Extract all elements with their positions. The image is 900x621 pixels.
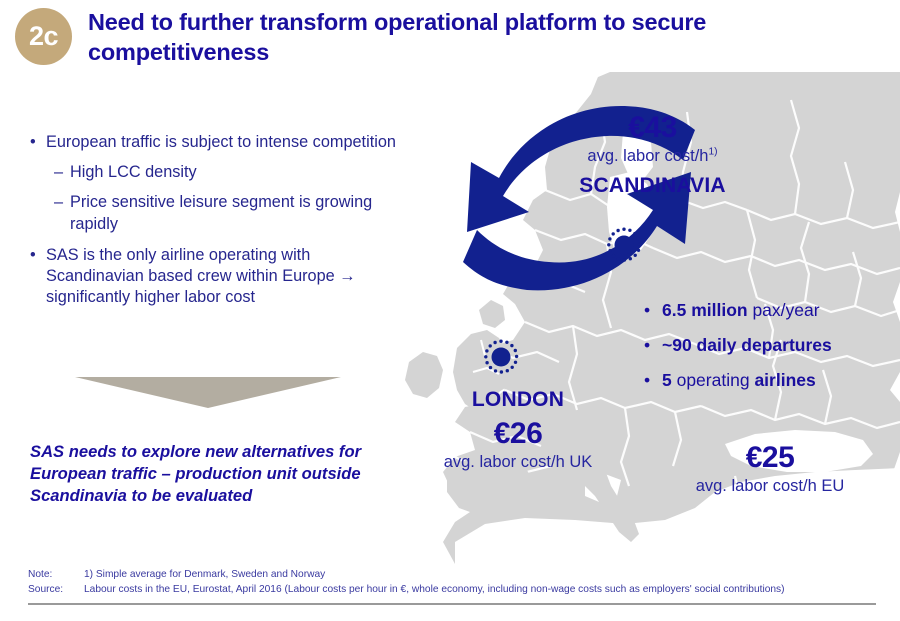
list-item-text: Price sensitive leisure segment is growi… [70, 193, 372, 232]
list-item: • European traffic is subject to intense… [28, 132, 408, 153]
note-row: Note: 1) Simple average for Denmark, Swe… [28, 568, 876, 583]
footer-divider [28, 603, 876, 605]
step-badge: 2c [15, 8, 72, 65]
source-text: Labour costs in the EU, Eurostat, April … [84, 583, 876, 598]
list-item-text: European traffic is subject to intense c… [46, 133, 396, 151]
london-marker [481, 337, 521, 377]
stat-value: ~90 daily departures [662, 335, 832, 355]
london-cost-value: €26 [408, 419, 628, 449]
eu-cost-value: €25 [650, 443, 890, 473]
network-stats-list: • 6.5 million pax/year • ~90 daily depar… [640, 300, 898, 405]
stat-value: 6.5 million [662, 300, 748, 320]
bullet-marker: • [644, 300, 650, 321]
slide-canvas: 2c Need to further transform operational… [0, 0, 900, 621]
list-item: • SAS is the only airline operating with… [28, 245, 408, 309]
source-row: Source: Labour costs in the EU, Eurostat… [28, 583, 876, 598]
callout-statement: SAS needs to explore new alternatives fo… [30, 441, 410, 508]
list-item-text: SAS is the only airline operating with S… [46, 246, 356, 306]
list-item: • ~90 daily departures [640, 335, 898, 356]
list-item: • 6.5 million pax/year [640, 300, 898, 321]
left-bullet-list: • European traffic is subject to intense… [28, 132, 408, 311]
note-label: Note: [28, 568, 84, 583]
down-arrow-icon [75, 377, 341, 408]
source-label: Source: [28, 583, 84, 598]
bullet-marker: – [54, 162, 63, 183]
list-item: • 5 operating airlines [640, 370, 898, 391]
london-label-block: LONDON €26 avg. labor cost/h UK [408, 388, 628, 473]
scandinavia-label-block: €43 avg. labor cost/h1) SCANDINAVIA [520, 113, 785, 197]
note-text: 1) Simple average for Denmark, Sweden an… [84, 568, 876, 583]
stat-unit: operating [672, 370, 755, 390]
eu-label-block: €25 avg. labor cost/h EU [650, 443, 890, 497]
bullet-marker: • [644, 370, 650, 391]
bullet-marker: • [644, 335, 650, 356]
stat-value-tail: airlines [754, 370, 815, 390]
scandinavia-cost-value: €43 [520, 113, 785, 143]
slide-header: 2c Need to further transform operational… [0, 0, 900, 72]
list-item-text: High LCC density [70, 163, 197, 181]
bullet-marker: • [30, 245, 36, 266]
scandinavia-marker [604, 225, 644, 265]
bullet-marker: – [54, 192, 63, 213]
scandinavia-place-name: SCANDINAVIA [520, 174, 785, 197]
list-item: – Price sensitive leisure segment is gro… [28, 192, 408, 234]
footnotes: Note: 1) Simple average for Denmark, Swe… [28, 568, 876, 598]
eu-cost-caption: avg. labor cost/h EU [650, 477, 890, 497]
london-cost-caption: avg. labor cost/h UK [408, 453, 628, 473]
stat-value: 5 [662, 370, 672, 390]
list-item: – High LCC density [28, 162, 408, 183]
stat-unit: pax/year [748, 300, 820, 320]
footnote-ref: 1) [708, 147, 717, 158]
scandinavia-cost-caption: avg. labor cost/h1) [520, 147, 785, 167]
london-place-name: LONDON [408, 388, 628, 411]
page-title: Need to further transform operational pl… [88, 8, 868, 67]
bullet-marker: • [30, 132, 36, 153]
